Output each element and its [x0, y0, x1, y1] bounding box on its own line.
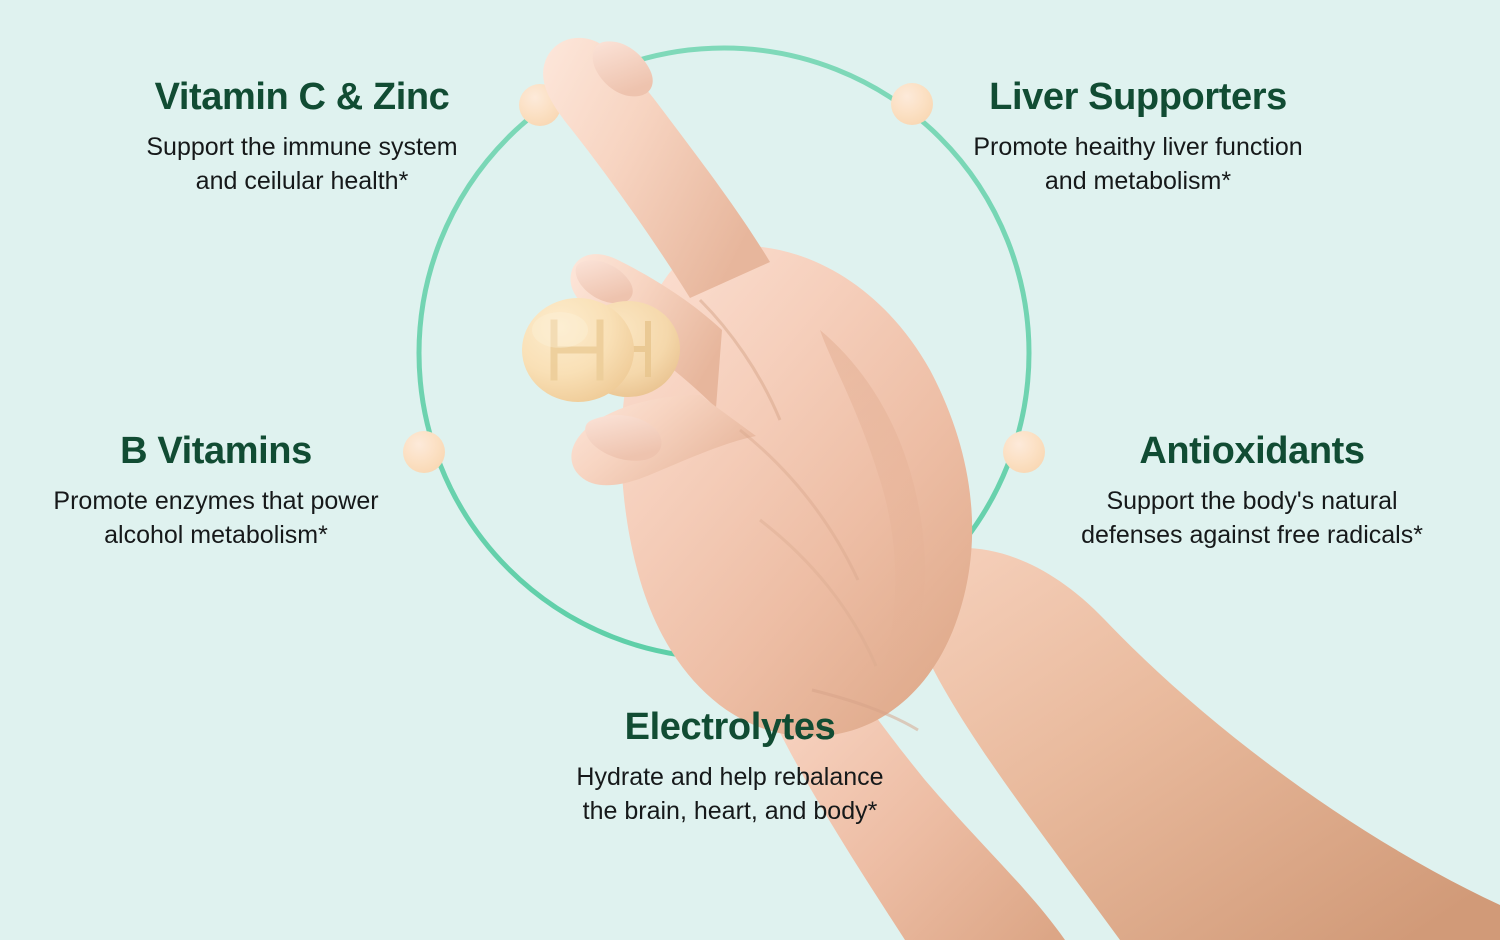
- callout-body-line-2: alcohol metabolism*: [8, 518, 424, 552]
- orbit-node-electrolytes[interactable]: [703, 647, 745, 689]
- callout-body-line-1: Promote heaithy liver function: [928, 130, 1348, 164]
- callout-body-line-2: the brain, heart, and body*: [510, 794, 950, 828]
- callout-title-b-vitamins: B Vitamins: [8, 432, 424, 472]
- callout-body-line-2: defenses against free radicals*: [1044, 518, 1460, 552]
- callout-body-liver-supporters: Promote heaithy liver function and metab…: [928, 130, 1348, 198]
- callout-title-antioxidants: Antioxidants: [1044, 432, 1460, 472]
- callout-body-electrolytes: Hydrate and help rebalance the brain, he…: [510, 760, 950, 828]
- callout-electrolytes: Electrolytes Hydrate and help rebalance …: [510, 708, 950, 828]
- callout-title-liver-supporters: Liver Supporters: [928, 78, 1348, 118]
- orbit-node-antioxidants[interactable]: [1003, 431, 1045, 473]
- infographic-canvas: Vitamin C & Zinc Support the immune syst…: [0, 0, 1500, 940]
- callout-title-vitamin-c-zinc: Vitamin C & Zinc: [92, 78, 512, 118]
- callout-body-line-1: Support the immune system: [92, 130, 512, 164]
- callout-body-line-1: Hydrate and help rebalance: [510, 760, 950, 794]
- callout-liver-supporters: Liver Supporters Promote heaithy liver f…: [928, 78, 1348, 198]
- callout-body-line-1: Promote enzymes that power: [8, 484, 424, 518]
- callout-body-antioxidants: Support the body's natural defenses agai…: [1044, 484, 1460, 552]
- callout-vitamin-c-zinc: Vitamin C & Zinc Support the immune syst…: [92, 78, 512, 198]
- callout-body-line-2: and metabolism*: [928, 164, 1348, 198]
- callout-body-b-vitamins: Promote enzymes that power alcohol metab…: [8, 484, 424, 552]
- orbit-node-liver-supporters[interactable]: [891, 83, 933, 125]
- callout-b-vitamins: B Vitamins Promote enzymes that power al…: [8, 432, 424, 552]
- callout-body-vitamin-c-zinc: Support the immune system and ceilular h…: [92, 130, 512, 198]
- orbit-node-vitamin-c-zinc[interactable]: [519, 84, 561, 126]
- callout-antioxidants: Antioxidants Support the body's natural …: [1044, 432, 1460, 552]
- callout-title-electrolytes: Electrolytes: [510, 708, 950, 748]
- callout-body-line-2: and ceilular health*: [92, 164, 512, 198]
- callout-body-line-1: Support the body's natural: [1044, 484, 1460, 518]
